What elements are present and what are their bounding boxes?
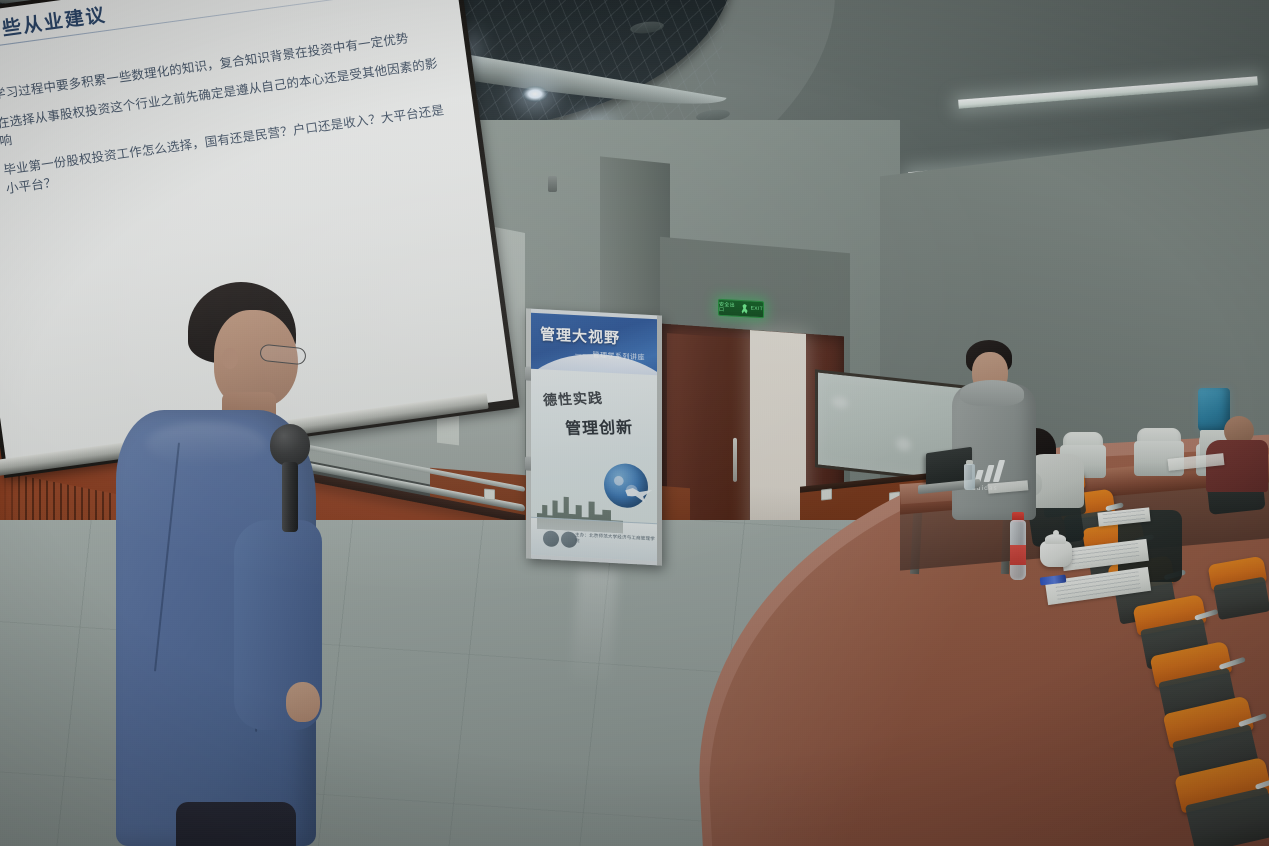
banner-footer: 主办：北京师范大学经济与工商管理学院 bbox=[531, 517, 657, 562]
ceiling-projector-mount bbox=[548, 176, 557, 192]
ceiling-downlight bbox=[522, 86, 548, 102]
rollup-banner: 管理大视野 —— 管理学系列讲座 德性实践 管理创新 主办：北京师范大学经济与工… bbox=[526, 308, 662, 565]
water-bottle-small[interactable] bbox=[964, 460, 975, 490]
microphone[interactable] bbox=[270, 424, 312, 534]
microphone-head bbox=[270, 424, 310, 466]
banner-logo-icon bbox=[543, 530, 559, 547]
banner-title: 管理大视野 bbox=[540, 323, 620, 348]
presenter-trousers bbox=[176, 802, 296, 846]
banner-footer-text: 主办：北京师范大学经济与工商管理学院 bbox=[575, 532, 657, 548]
bottle-body bbox=[964, 464, 975, 490]
teapot-knob bbox=[1053, 530, 1059, 536]
teapot[interactable] bbox=[1038, 533, 1074, 567]
banner-body: 德性实践 管理创新 主办：北京师范大学经济与工商管理学院 bbox=[531, 369, 657, 562]
bottle-label bbox=[1010, 545, 1027, 565]
wall-outlet[interactable] bbox=[484, 489, 495, 501]
running-person-icon bbox=[741, 304, 749, 314]
exit-sign-label-left: 安全出口 bbox=[719, 302, 739, 313]
shirt-highlight bbox=[146, 422, 266, 466]
presenter-ear bbox=[222, 348, 238, 369]
floor-light-reflection bbox=[570, 567, 618, 689]
banner-calligraphy-line1: 德性实践 bbox=[542, 388, 604, 410]
chair-orange[interactable] bbox=[1208, 556, 1269, 621]
exit-sign-label-right: EXIT bbox=[751, 307, 763, 313]
hoodie-hood bbox=[960, 380, 1024, 406]
slide-bullet-list: 学习过程中要多积累一些数理化的知识，复合知识背景在投资中有一定优势 在选择从事股… bbox=[0, 25, 458, 211]
lecture-hall-photo: 安全出口 EXIT 一些从业建议 学习过 bbox=[0, 0, 1269, 846]
water-bottle-red-cap[interactable] bbox=[1008, 512, 1028, 580]
presenter bbox=[110, 282, 340, 846]
microphone-handle[interactable] bbox=[282, 462, 298, 532]
exit-sign: 安全出口 EXIT bbox=[718, 299, 764, 318]
door-handle[interactable] bbox=[733, 438, 737, 482]
whiteboard-glare bbox=[832, 396, 848, 409]
whiteboard-glare bbox=[896, 437, 911, 452]
wall-outlet[interactable] bbox=[821, 488, 832, 500]
banner-calligraphy-line2: 管理创新 bbox=[564, 414, 634, 439]
presenter-hand bbox=[286, 682, 320, 722]
paper-text-lines bbox=[1103, 510, 1146, 525]
far-right-attendee bbox=[1206, 416, 1268, 488]
banner-subtitle: —— 管理学系列讲座 bbox=[575, 349, 645, 363]
banner-globe-graphic bbox=[604, 463, 648, 509]
teapot-body bbox=[1040, 541, 1072, 567]
